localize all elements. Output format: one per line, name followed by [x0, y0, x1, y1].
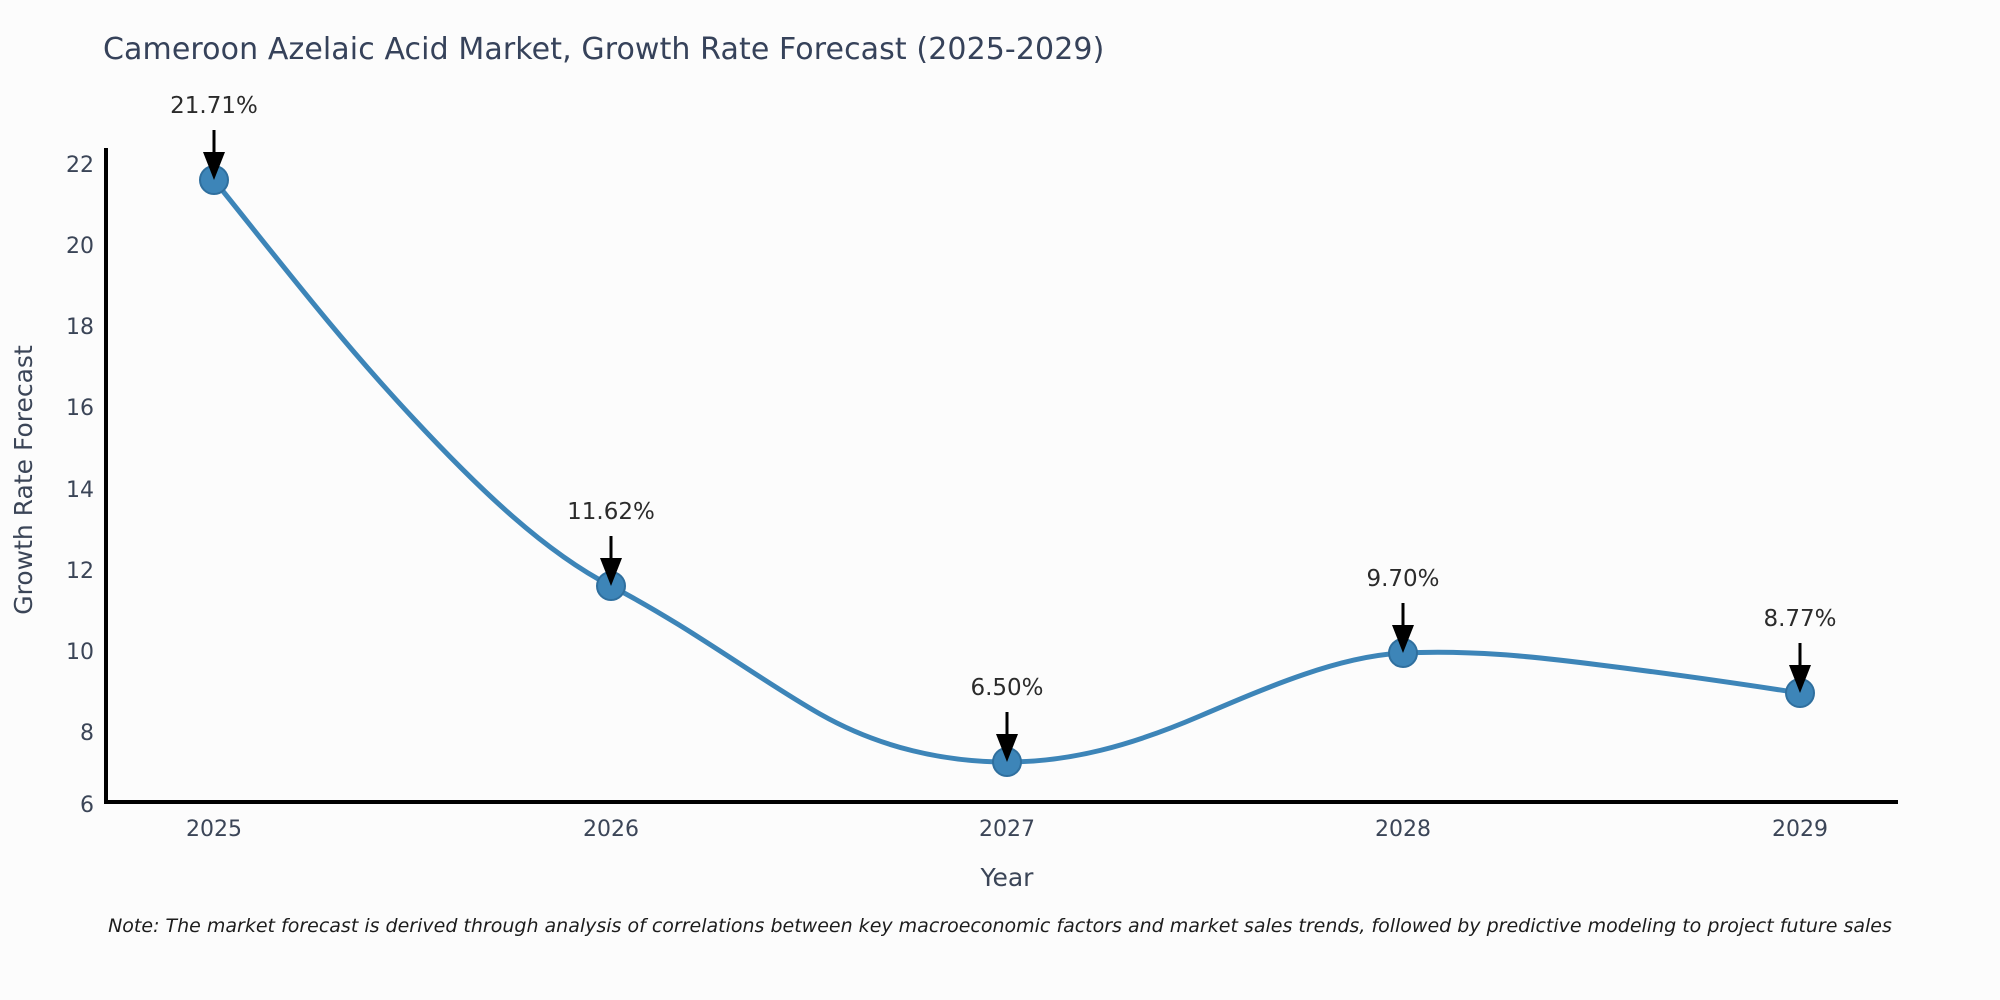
- y-tick-label: 16: [66, 396, 94, 421]
- data-point-label: 9.70%: [1366, 566, 1439, 592]
- data-point-label: 6.50%: [970, 675, 1043, 701]
- x-tick-label: 2029: [1772, 817, 1828, 842]
- x-tick-label: 2028: [1375, 817, 1431, 842]
- x-tick-label: 2026: [583, 817, 639, 842]
- y-tick-label: 18: [66, 315, 94, 340]
- y-tick-label: 12: [66, 559, 94, 584]
- line-chart-plot: 22 20 18 16 14 12 10 8 6 2025 2026 2027 …: [0, 0, 2000, 1000]
- annotation-labels: 21.71% 11.62% 6.50% 9.70% 8.77%: [170, 93, 1836, 701]
- data-point-label: 8.77%: [1763, 606, 1836, 632]
- y-tick-label: 6: [80, 793, 94, 818]
- y-tick-labels: 22 20 18 16 14 12 10 8 6: [66, 153, 94, 818]
- x-tick-label: 2025: [186, 817, 242, 842]
- data-point-label: 11.62%: [567, 499, 655, 525]
- x-axis-title: Year: [980, 863, 1035, 892]
- chart-footnote: Note: The market forecast is derived thr…: [0, 915, 2000, 937]
- chart-figure: Cameroon Azelaic Acid Market, Growth Rat…: [0, 0, 2000, 1000]
- annotation-arrows: [203, 130, 1811, 762]
- x-tick-labels: 2025 2026 2027 2028 2029: [186, 817, 1828, 842]
- y-tick-label: 22: [66, 153, 94, 178]
- x-tick-label: 2027: [979, 817, 1035, 842]
- data-point-label: 21.71%: [170, 93, 258, 119]
- y-tick-label: 14: [66, 478, 94, 503]
- y-tick-label: 20: [66, 234, 94, 259]
- y-tick-label: 8: [80, 721, 94, 746]
- y-axis-title: Growth Rate Forecast: [9, 345, 38, 615]
- y-tick-label: 10: [66, 640, 94, 665]
